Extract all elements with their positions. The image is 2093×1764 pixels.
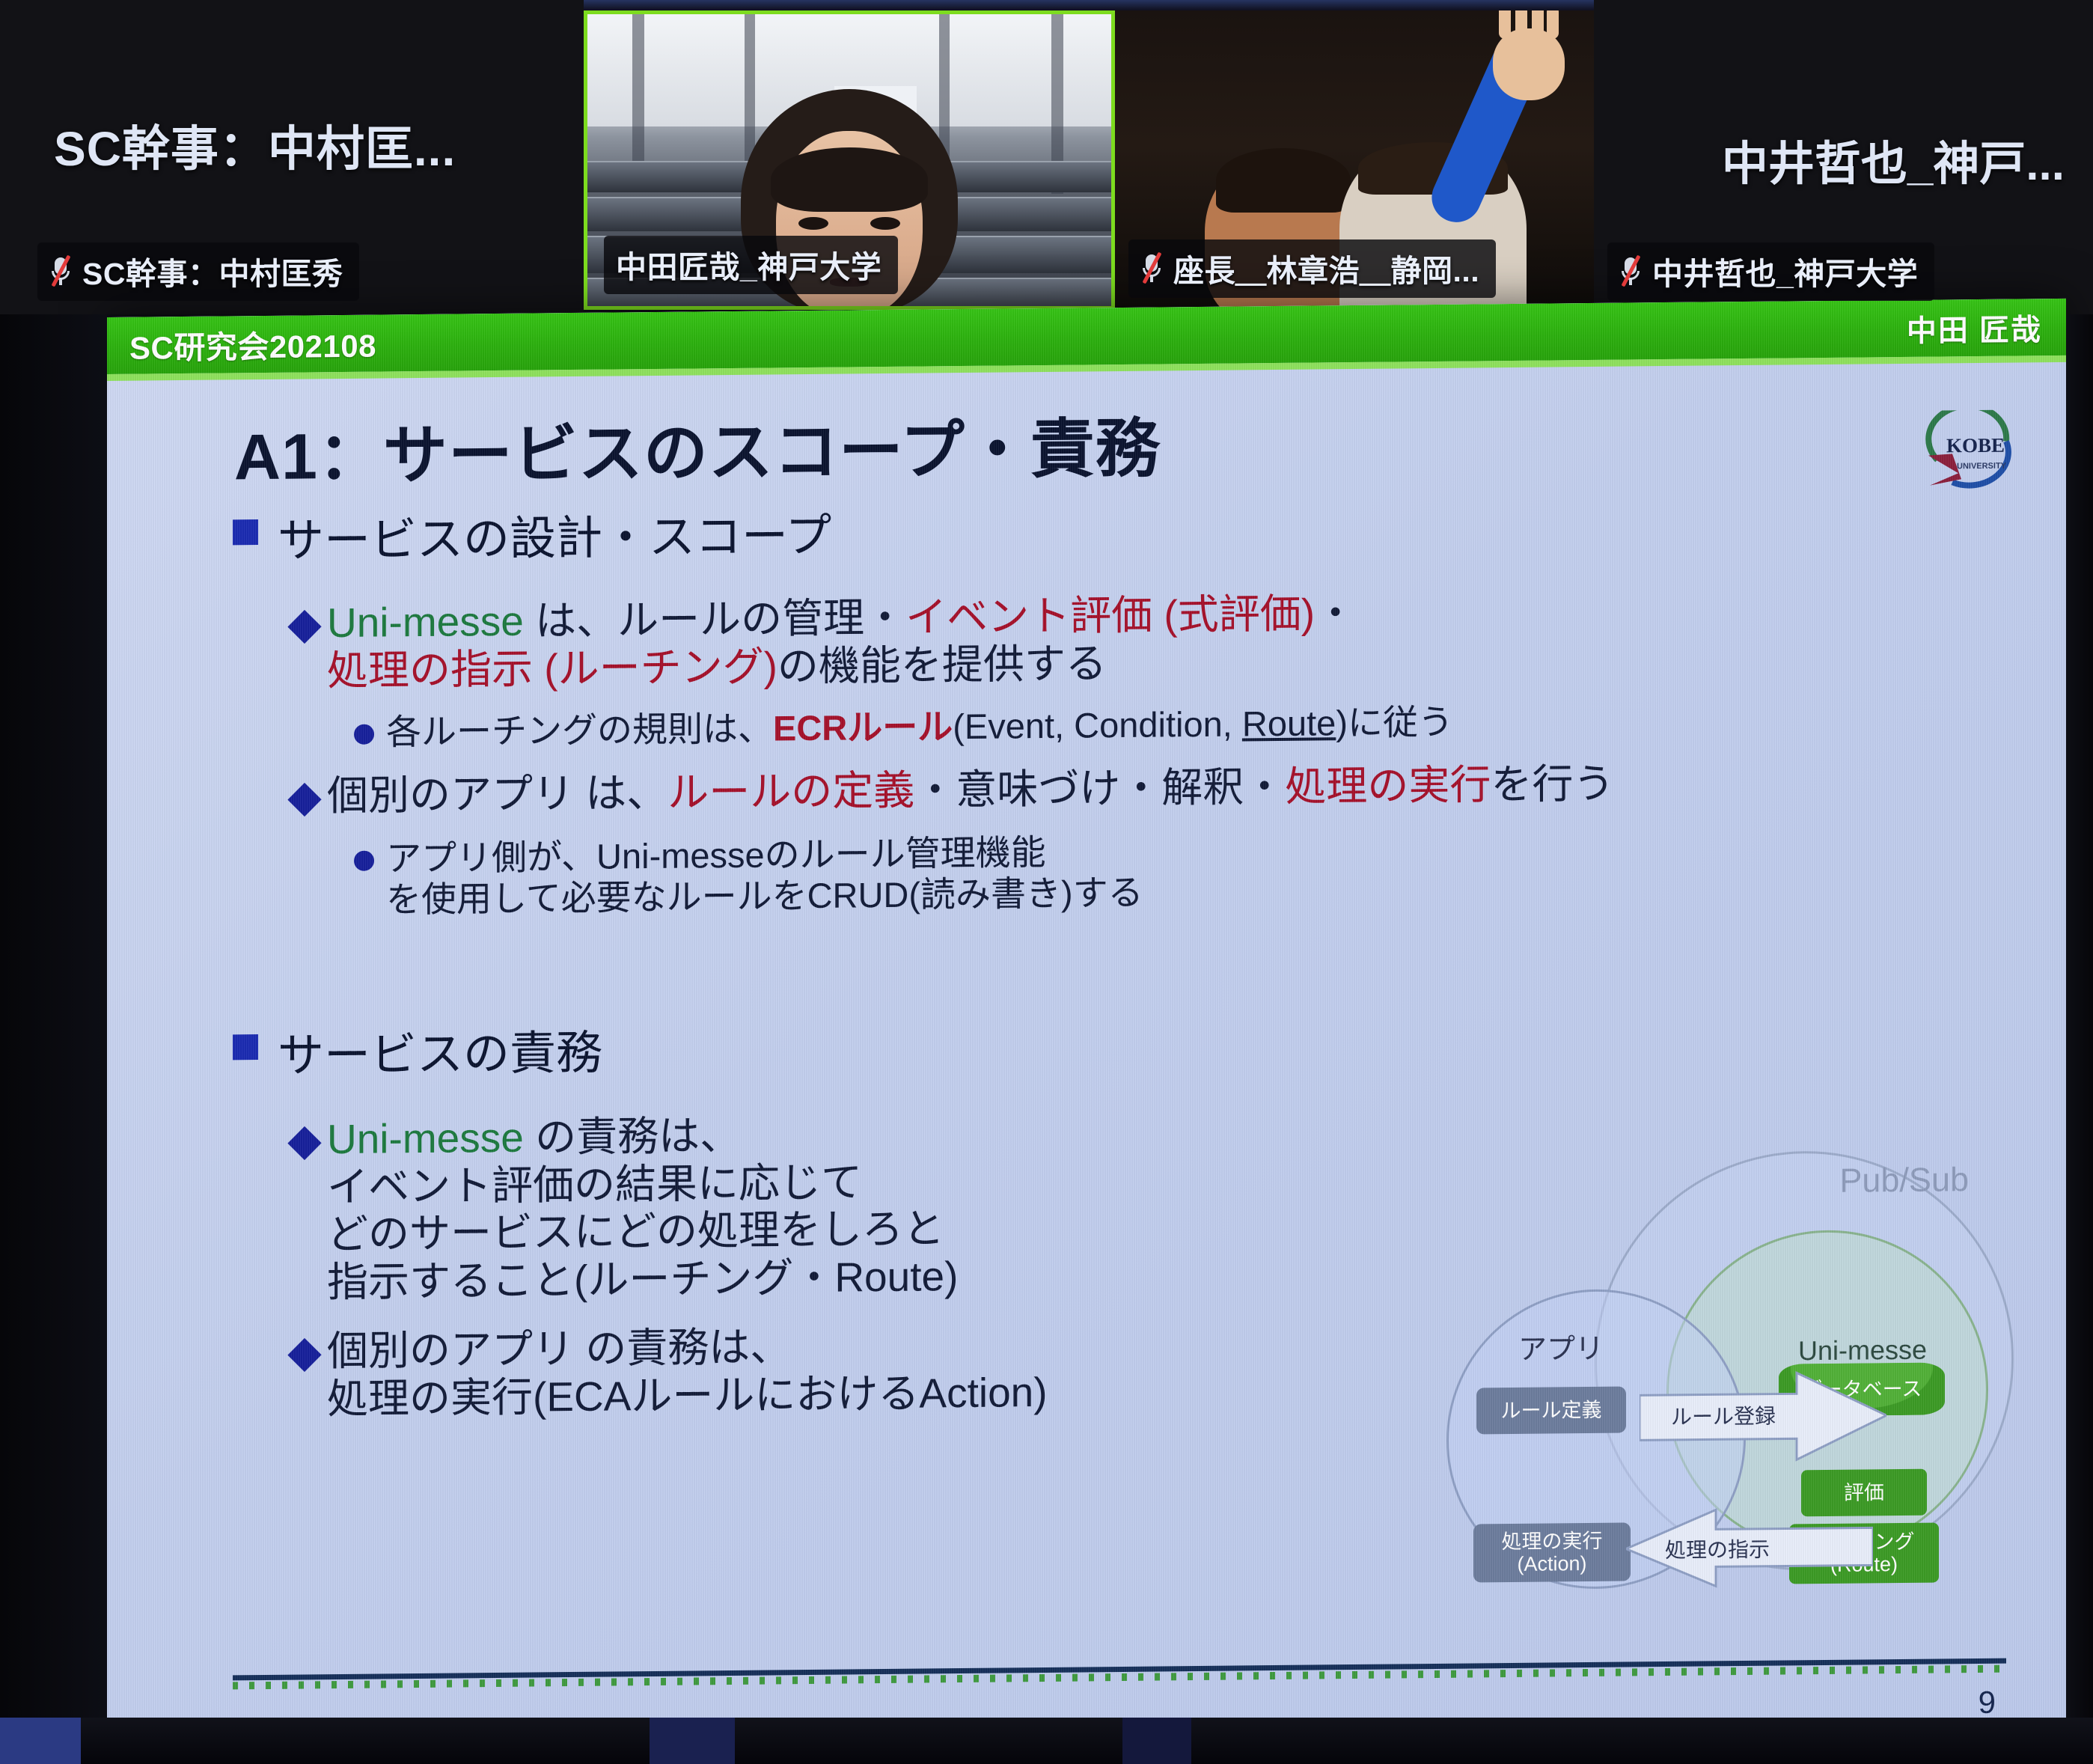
run-paren: (Event, Condition, [953,704,1242,746]
box-line2: (Action) [1517,1552,1586,1575]
video-tile-nakamura[interactable]: SC幹事：中村匡... SC幹事：中村匡秀 [0,0,584,314]
run-line1: 個別のアプリ の責務は、 [327,1323,791,1374]
raised-hand [1493,28,1565,100]
screen-frame-right [2066,314,2093,1764]
run-plain: 各ルーチングの規則は、 [386,708,773,751]
architecture-figure: Pub/Sub アプリ Uni-messe ルール定義 処理の実行 (Actio… [1393,1145,2014,1623]
run-unimesse: Uni-messe [327,1114,524,1162]
video-participant-strip: SC幹事：中村匡... SC幹事：中村匡秀 [0,0,2093,314]
bullet-ecr-rule: 各ルーチングの規則は、ECRルール(Event, Condition, Rout… [354,695,2066,752]
participant-name-label: 中田匠哉_神戸大学 [616,242,881,287]
section-heading-text: サービスの設計・スコープ [278,498,831,570]
diamond-bullet-icon [287,1338,321,1372]
participant-name-badge: SC幹事：中村匡秀 [37,242,359,301]
svg-text:UNIVERSITY: UNIVERSITY [1957,462,2007,471]
participant-overlay-name: SC幹事：中村匡... [54,111,456,180]
screen-frame-left [0,314,107,1764]
box-line1: 処理の実行 [1502,1530,1603,1554]
run-tail: )に従う [1336,701,1453,742]
square-bullet-icon [233,1034,258,1060]
mic-muted-icon [1140,253,1163,283]
participant-name-label: SC幹事：中村匡秀 [82,248,343,293]
participant-overlay-name: 中井哲也_神戸... [1722,126,2065,193]
arrow-label-rule-registration: ルール登録 [1671,1400,1776,1431]
run-sep: ・ [1315,590,1356,637]
slide-header-right-text: 中田 匠哉 [1907,305,2042,350]
run-unimesse: Uni-messe [327,598,524,647]
run-line4: 指示すること(ルーチング・Route) [327,1253,958,1305]
square-bullet-icon [233,519,258,545]
run-plain: 個別のアプリ は、 [327,769,667,819]
participant-name-badge: 中井哲也_神戸大学 [1607,242,1934,301]
run-ecr: ECRルール [773,706,953,748]
section-heading-text: サービスの責務 [278,1014,602,1084]
box-line1: ルール定義 [1501,1399,1602,1423]
bullet-text: Uni-messe は、ルールの管理・イベント評価 (式評価)・ 処理の指示 (… [327,590,1356,695]
run-exec: 処理の実行 [1285,761,1491,810]
bullet-text: アプリ側が、Uni-messeのルール管理機能 を使用して必要なルールをCRUD… [386,831,1143,921]
participant-name-badge: 中田匠哉_神戸大学 [604,236,898,294]
run-line2: を使用して必要なルールをCRUD(読み書き)する [386,873,1143,920]
shared-slide: SC研究会202108 中田 匠哉 A1：サービスのスコープ・責務 KOBE U… [107,299,2066,1764]
dot-bullet-icon [354,724,374,744]
run-route: Route [1242,703,1336,743]
slide-page-number: 9 [1979,1685,1996,1721]
video-tile-nakata[interactable]: 中田匠哉_神戸大学 [584,10,1115,310]
run-event-eval: イベント評価 (式評価) [905,590,1315,641]
run-provides: の機能を提供する [777,640,1107,689]
run-tail: を行う [1491,760,1614,808]
mic-muted-icon [1619,256,1642,286]
video-tile-hayashi[interactable]: 座長＿林章浩＿静岡... [1115,10,1594,310]
figure-box-rule-definition: ルール定義 [1476,1387,1626,1435]
arrow-label-processing-instruction: 処理の指示 [1665,1533,1770,1564]
diamond-bullet-icon [287,610,321,644]
taskbar-chip-c[interactable] [1122,1718,1191,1764]
run-routing: 処理の指示 (ルーチング) [327,643,777,694]
video-tile-nakai[interactable]: 中井哲也_神戸... 中井哲也_神戸大学 [1594,0,2093,314]
run-duty: の責務は、 [524,1112,741,1161]
taskbar-band [0,1718,2093,1764]
run-mid: ・意味づけ・解釈・ [914,763,1285,814]
participant-name-label: 中井哲也_神戸大学 [1652,248,1918,293]
bullet-text: 各ルーチングの規則は、ECRルール(Event, Condition, Rout… [386,701,1453,752]
diamond-bullet-icon [287,1126,321,1160]
bullet-crud: アプリ側が、Uni-messeのルール管理機能 を使用して必要なルールをCRUD… [354,822,2066,921]
bullet-text: Uni-messe の責務は、 イベント評価の結果に応じて どのサービスにどの処… [327,1110,958,1307]
figure-label-pubsub: Pub/Sub [1839,1160,1969,1200]
run-plain: は、ルールの管理・ [524,594,905,644]
screen-root: SC幹事：中村匡... SC幹事：中村匡秀 [0,0,2093,1764]
run-line2: イベント評価の結果に応じて [327,1159,862,1210]
bullet-text: 個別のアプリ は、ルールの定義・意味づけ・解釈・処理の実行を行う [327,760,1614,820]
slide-header-left-text: SC研究会202108 [129,320,376,368]
run-line3: どのサービスにどの処理をしろと [327,1206,944,1258]
svg-text:KOBE: KOBE [1946,434,2005,457]
bullet-text: 個別のアプリ の責務は、 処理の実行(ECAルールにおけるAction) [327,1321,1048,1423]
diamond-bullet-icon [287,783,321,817]
figure-label-app: アプリ [1518,1325,1604,1367]
kobe-university-logo-icon: KOBE UNIVERSITY [1922,409,2035,492]
section-heading-responsibility: サービスの責務 [233,1001,2066,1086]
run-line2: 処理の実行(ECAルールにおけるAction) [327,1369,1048,1422]
dot-bullet-icon [354,850,374,870]
bullet-app-responsibility: 個別のアプリ は、ルールの定義・意味づけ・解釈・処理の実行を行う [293,756,2066,821]
figure-box-action: 処理の実行 (Action) [1473,1522,1631,1582]
slide-title: A1：サービスのスコープ・責務 [234,395,1161,498]
run-line1: アプリ側が、Uni-messeのルール管理機能 [386,832,1046,878]
figure-label-unimesse: Uni-messe [1798,1334,1927,1367]
run-rule-def: ルールの定義 [667,767,914,816]
mic-muted-icon [49,256,72,286]
taskbar-chip-b[interactable] [650,1718,735,1764]
box-line1: 評価 [1844,1481,1884,1504]
participant-name-badge: 座長＿林章浩＿静岡... [1128,239,1496,298]
bullet-unimesse-scope: Uni-messe は、ルールの管理・イベント評価 (式評価)・ 処理の指示 (… [293,583,2066,695]
participant-name-label: 座長＿林章浩＿静岡... [1173,245,1479,290]
taskbar-chip-a[interactable] [0,1718,81,1764]
